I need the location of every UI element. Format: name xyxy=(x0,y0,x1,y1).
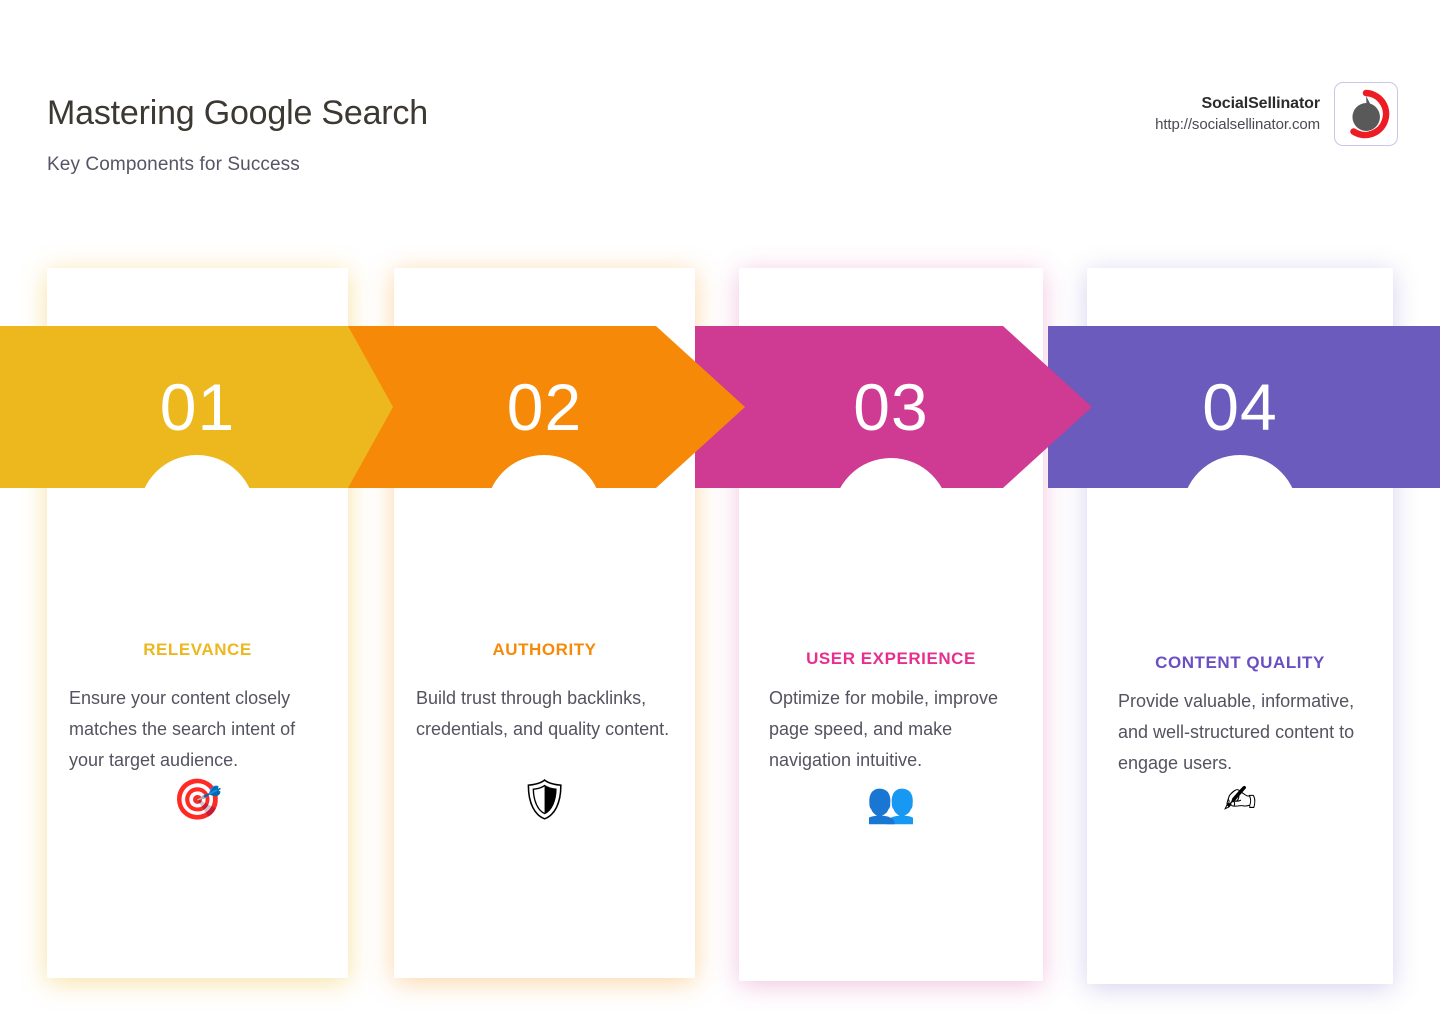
two-people-icon: 👥 xyxy=(739,783,1043,823)
card-body-content-quality: Provide valuable, informative, and well-… xyxy=(1118,686,1368,779)
dart-target-icon: 🎯 xyxy=(47,780,348,820)
writing-hand-icon: ✍ xyxy=(1087,780,1393,820)
card-body-authority: Build trust through backlinks, credentia… xyxy=(416,683,678,745)
shield-icon: 🛡 xyxy=(394,780,695,820)
icon-bump-03 xyxy=(833,458,949,574)
card-heading-content-quality: CONTENT QUALITY xyxy=(1087,653,1393,673)
card-heading-authority: AUTHORITY xyxy=(394,640,695,660)
card-heading-relevance: RELEVANCE xyxy=(47,640,348,660)
infographic-page: Mastering Google Search Key Components f… xyxy=(0,0,1440,1024)
card-body-relevance: Ensure your content closely matches the … xyxy=(69,683,331,776)
card-authority[interactable]: 🛡 AUTHORITY Build trust through backlink… xyxy=(394,268,695,978)
card-heading-user-experience: USER EXPERIENCE xyxy=(739,649,1043,669)
card-relevance[interactable]: 🎯 RELEVANCE Ensure your content closely … xyxy=(47,268,348,978)
card-user-experience[interactable]: 👥 USER EXPERIENCE Optimize for mobile, i… xyxy=(739,268,1043,981)
icon-bump-02 xyxy=(486,455,602,571)
card-body-user-experience: Optimize for mobile, improve page speed,… xyxy=(769,683,1027,776)
icon-bump-04 xyxy=(1182,455,1298,571)
card-content-quality[interactable]: ✍ CONTENT QUALITY Provide valuable, info… xyxy=(1087,268,1393,984)
icon-bump-01 xyxy=(139,455,255,571)
